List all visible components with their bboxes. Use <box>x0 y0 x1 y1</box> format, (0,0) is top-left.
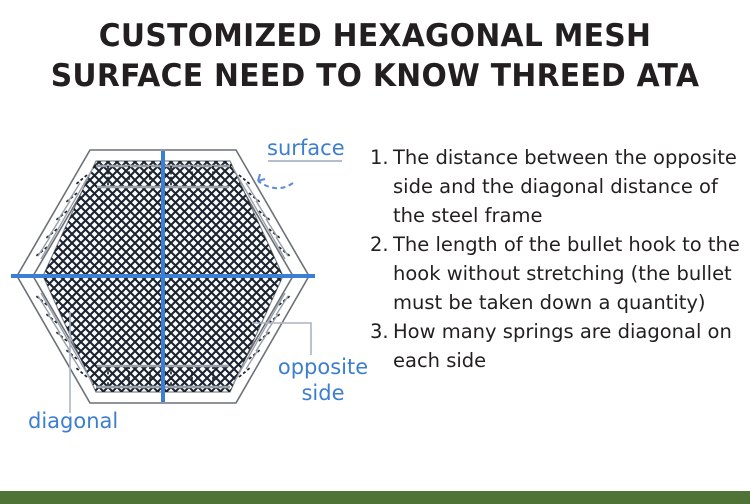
list-item: 1. The distance between the opposite sid… <box>370 143 742 230</box>
label-diagonal: diagonal <box>28 409 118 434</box>
list-item-number: 3. <box>370 317 393 346</box>
label-opposite-side: opposite side <box>275 354 371 406</box>
list-item-number: 2. <box>370 230 393 259</box>
list-item-text: How many springs are diagonal on each si… <box>393 317 742 375</box>
page-title-line-2: SURFACE NEED TO KNOW THREED ATA <box>15 56 735 96</box>
surface-leader-arrow <box>258 181 293 188</box>
page-title: CUSTOMIZED HEXAGONAL MESH SURFACE NEED T… <box>0 16 750 96</box>
requirements-list: 1. The distance between the opposite sid… <box>370 143 742 375</box>
page-title-line-1: CUSTOMIZED HEXAGONAL MESH <box>15 16 735 56</box>
footer-accent-bar <box>0 491 750 504</box>
surface-leader-arrowhead <box>258 174 265 181</box>
list-item-text: The length of the bullet hook to the hoo… <box>393 230 742 317</box>
list-item-number: 1. <box>370 143 393 172</box>
label-surface: surface <box>267 136 345 161</box>
list-item-text: The distance between the opposite side a… <box>393 143 742 230</box>
list-item: 2. The length of the bullet hook to the … <box>370 230 742 317</box>
list-item: 3. How many springs are diagonal on each… <box>370 317 742 375</box>
